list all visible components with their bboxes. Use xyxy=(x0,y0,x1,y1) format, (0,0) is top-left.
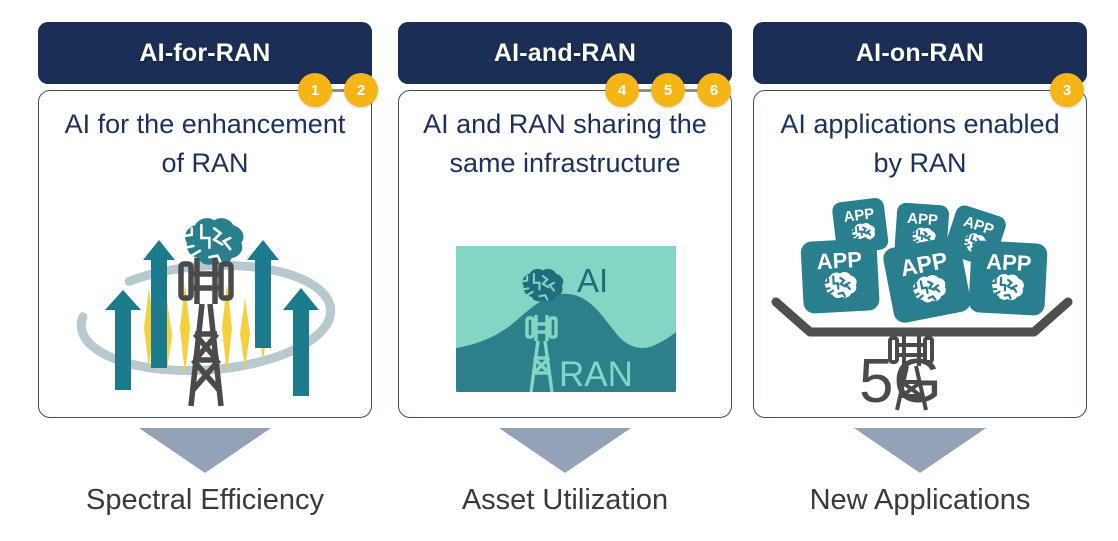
app-tile-label: APP xyxy=(816,247,862,274)
header-title: AI-for-RAN xyxy=(139,39,270,68)
tower-arrows-svg xyxy=(39,218,372,408)
badge-1[interactable]: 1 xyxy=(298,73,332,107)
illustration-shared-infrastructure: AI RAN xyxy=(399,240,731,405)
badge-5[interactable]: 5 xyxy=(651,73,685,107)
illustration-tower-arrows xyxy=(39,218,371,413)
column-ai-for-ran: AI-for-RAN 1 2 AI for the enhancement of… xyxy=(36,0,374,541)
badge-group-3: 3 xyxy=(1050,72,1084,108)
header-title: AI-on-RAN xyxy=(856,39,984,68)
column-ai-and-ran: AI-and-RAN 4 5 6 AI and RAN sharing the … xyxy=(396,0,734,541)
brain-icon xyxy=(182,218,243,265)
app-tile: APP xyxy=(881,235,972,324)
badge-connector-icon xyxy=(332,89,344,92)
badge-group-2: 4 5 6 xyxy=(605,72,731,108)
flow-arrow-down-icon xyxy=(499,428,631,473)
card-ai-and-ran: AI and RAN sharing the same infrastructu… xyxy=(398,90,732,418)
app-tile-label: APP xyxy=(986,249,1032,276)
art-label-ai: AI xyxy=(577,262,608,299)
badge-group-1: 1 2 xyxy=(298,72,378,108)
footer-outcome-label: New Applications xyxy=(751,484,1089,517)
app-tray-svg: APP APP xyxy=(754,184,1087,412)
card-ai-for-ran: AI for the enhancement of RAN xyxy=(38,90,372,418)
app-tile: APP xyxy=(968,240,1048,316)
header-ai-on-ran: AI-on-RAN xyxy=(753,22,1087,84)
diagram-canvas: AI-for-RAN 1 2 AI for the enhancement of… xyxy=(0,0,1118,541)
card-description: AI for the enhancement of RAN xyxy=(39,105,371,183)
landscape-panel-svg: AI RAN xyxy=(399,240,732,400)
app-tile: APP xyxy=(800,238,880,314)
card-description: AI applications enabled by RAN xyxy=(754,105,1086,183)
column-ai-on-ran: AI-on-RAN 3 AI applications enabled by R… xyxy=(751,0,1089,541)
badge-connector-icon xyxy=(685,89,697,92)
badge-4[interactable]: 4 xyxy=(605,73,639,107)
badge-6[interactable]: 6 xyxy=(697,73,731,107)
app-tile-label: APP xyxy=(907,210,939,229)
badge-connector-icon xyxy=(639,89,651,92)
footer-outcome-label: Asset Utilization xyxy=(396,484,734,517)
card-description: AI and RAN sharing the same infrastructu… xyxy=(399,105,731,183)
art-label-ran: RAN xyxy=(559,355,633,394)
flow-arrow-down-icon xyxy=(139,428,271,473)
footer-outcome-label: Spectral Efficiency xyxy=(36,484,374,517)
flow-arrow-down-icon xyxy=(854,428,986,473)
badge-3[interactable]: 3 xyxy=(1050,73,1084,107)
card-ai-on-ran: AI applications enabled by RAN APP xyxy=(753,90,1087,418)
badge-2[interactable]: 2 xyxy=(344,73,378,107)
header-title: AI-and-RAN xyxy=(494,39,636,68)
illustration-app-tray: APP APP xyxy=(754,184,1086,417)
